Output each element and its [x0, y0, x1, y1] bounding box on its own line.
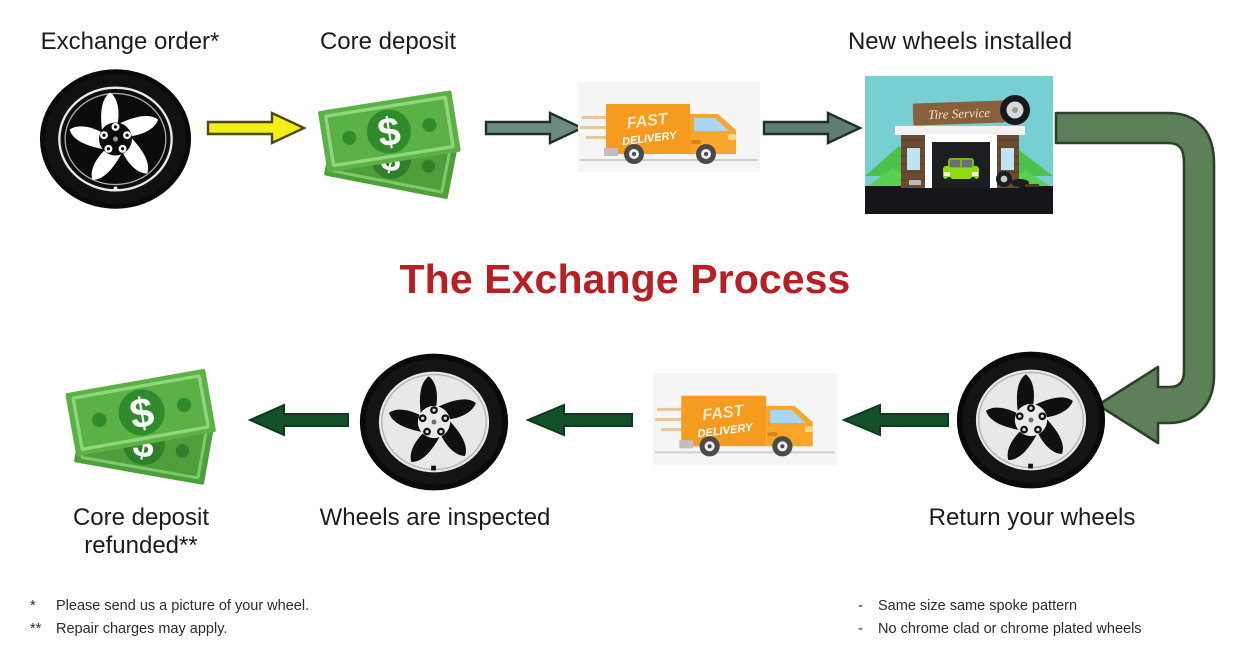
footnote-text: No chrome clad or chrome plated wheels: [878, 618, 1142, 641]
cash-money-icon-top: $ $: [310, 74, 475, 204]
label-core-deposit-refunded: Core deposit refunded**: [28, 504, 254, 559]
label-core-deposit: Core deposit: [268, 28, 508, 56]
footnote-mark: -: [858, 595, 878, 618]
delivery-truck-icon-bottom: FAST DELIVERY: [653, 373, 837, 465]
exchange-process-diagram: Exchange order* Core deposit New wheels …: [0, 0, 1250, 666]
footnote-mark: -: [858, 618, 878, 641]
label-exchange-order: Exchange order*: [0, 28, 260, 56]
wheel-silver-icon-return: [955, 350, 1107, 490]
arrow-order-to-deposit: [206, 110, 306, 146]
arrow-truck-to-inspect: [524, 402, 634, 438]
label-return-your-wheels: Return your wheels: [898, 504, 1166, 532]
footnote-right-2: - No chrome clad or chrome plated wheels: [858, 618, 1250, 641]
arrow-truck-to-shop: [762, 110, 862, 146]
footnote-mark: **: [30, 618, 56, 641]
arrow-deposit-to-truck: [484, 110, 584, 146]
cash-money-icon-bottom: $ $: [58, 352, 233, 490]
wheel-silver-icon-inspected: [358, 352, 510, 492]
delivery-truck-icon-top: FAST DELIVERY: [578, 82, 760, 172]
tire-service-shop-icon: Tire Service: [865, 76, 1053, 214]
page-title: The Exchange Process: [0, 256, 1250, 303]
wheel-black-icon: [38, 68, 193, 210]
svg-text:Tire Service: Tire Service: [928, 105, 991, 122]
footnote-text: Repair charges may apply.: [56, 618, 227, 641]
label-new-wheels-installed: New wheels installed: [800, 28, 1120, 56]
arrow-inspect-to-refund: [246, 402, 350, 438]
footnote-text: Same size same spoke pattern: [878, 595, 1077, 618]
footnote-mark: *: [30, 595, 56, 618]
arrow-return-to-truck: [840, 402, 950, 438]
footnote-text: Please send us a picture of your wheel.: [56, 595, 309, 618]
footnote-left-2: ** Repair charges may apply.: [30, 618, 460, 641]
footnotes-left: * Please send us a picture of your wheel…: [30, 595, 460, 642]
footnote-right-1: - Same size same spoke pattern: [858, 595, 1250, 618]
footnotes-right: - Same size same spoke pattern - No chro…: [858, 595, 1250, 642]
footnote-left-1: * Please send us a picture of your wheel…: [30, 595, 460, 618]
label-wheels-are-inspected: Wheels are inspected: [288, 504, 582, 532]
